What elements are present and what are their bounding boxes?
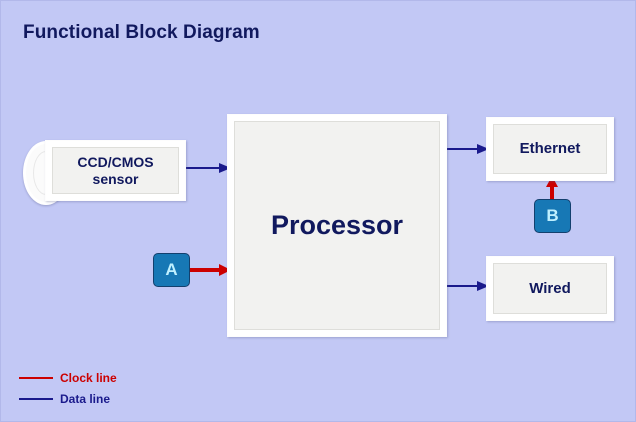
block-ccd-cmos-sensor[interactable]: CCD/CMOS sensor [45, 140, 186, 201]
block-sensor-label: CCD/CMOS sensor [77, 154, 153, 186]
connector-callout-a-to-processor [189, 263, 231, 277]
legend-swatch-clock-icon [19, 377, 53, 379]
block-wired-label: Wired [493, 263, 607, 314]
callout-a[interactable]: A [153, 253, 190, 287]
block-processor-label: Processor [234, 121, 440, 330]
legend-swatch-data-icon [19, 398, 53, 400]
connector-sensor-to-processor [186, 161, 231, 175]
block-sensor-label-wrap: CCD/CMOS sensor [52, 147, 179, 194]
block-ethernet[interactable]: Ethernet [486, 117, 614, 181]
connector-processor-to-ethernet [444, 142, 489, 156]
callout-b[interactable]: B [534, 199, 571, 233]
legend-item-clock: Clock line [19, 367, 117, 388]
block-processor[interactable]: Processor [227, 114, 447, 337]
page-title: Functional Block Diagram [23, 22, 260, 44]
connector-processor-to-wired [444, 279, 489, 293]
block-wired[interactable]: Wired [486, 256, 614, 321]
legend-label-data: Data line [60, 392, 110, 406]
legend-item-data: Data line [19, 388, 117, 409]
block-ethernet-label: Ethernet [493, 124, 607, 174]
legend-label-clock: Clock line [60, 371, 117, 385]
legend: Clock line Data line [19, 367, 117, 409]
diagram-canvas: Functional Block Diagram [0, 0, 636, 422]
